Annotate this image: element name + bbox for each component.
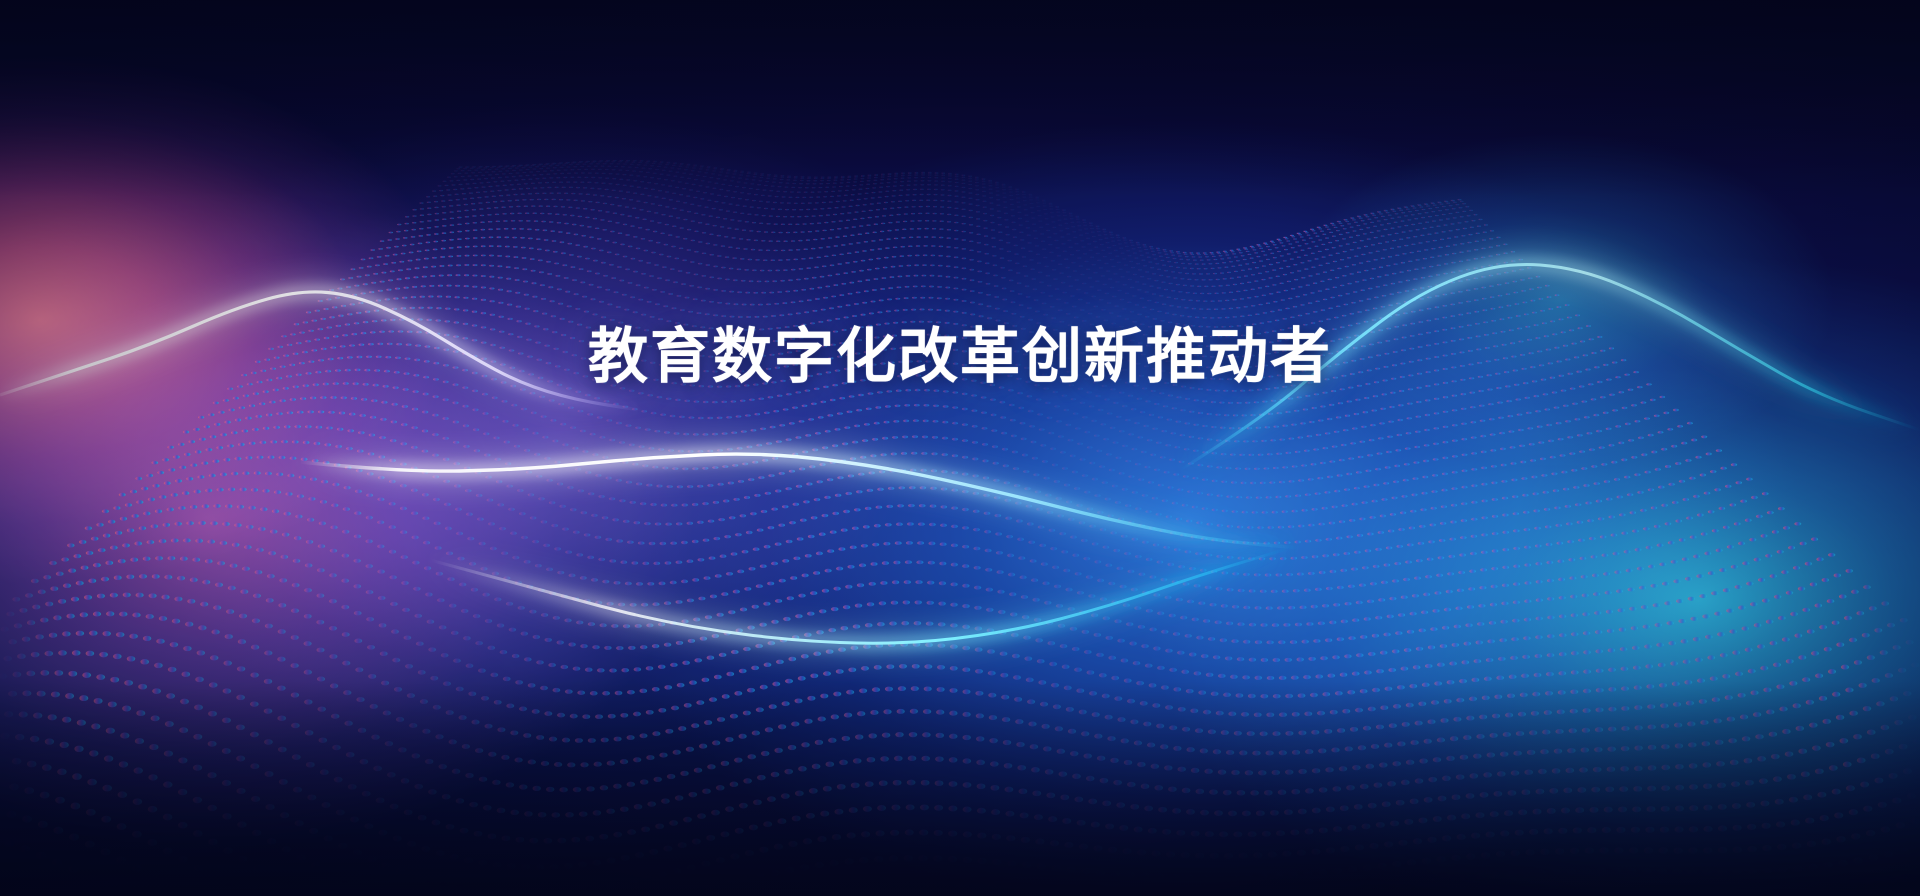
cyan-secondary-glow bbox=[0, 0, 1920, 896]
cyan-light-glow bbox=[0, 0, 1920, 896]
hero-banner: 教育数字化改革创新推动者 bbox=[0, 0, 1920, 896]
red-light-glow bbox=[0, 0, 1920, 896]
vignette-overlay bbox=[0, 0, 1920, 896]
blue-light-glow bbox=[0, 0, 1920, 896]
headline-container: 教育数字化改革创新推动者 bbox=[0, 286, 1920, 429]
background-gradient bbox=[0, 0, 1920, 896]
particle-wave-mesh bbox=[0, 0, 1920, 896]
page-title: 教育数字化改革创新推动者 bbox=[588, 326, 1332, 389]
violet-light-glow bbox=[0, 0, 1920, 896]
magenta-light-glow bbox=[0, 0, 1920, 896]
